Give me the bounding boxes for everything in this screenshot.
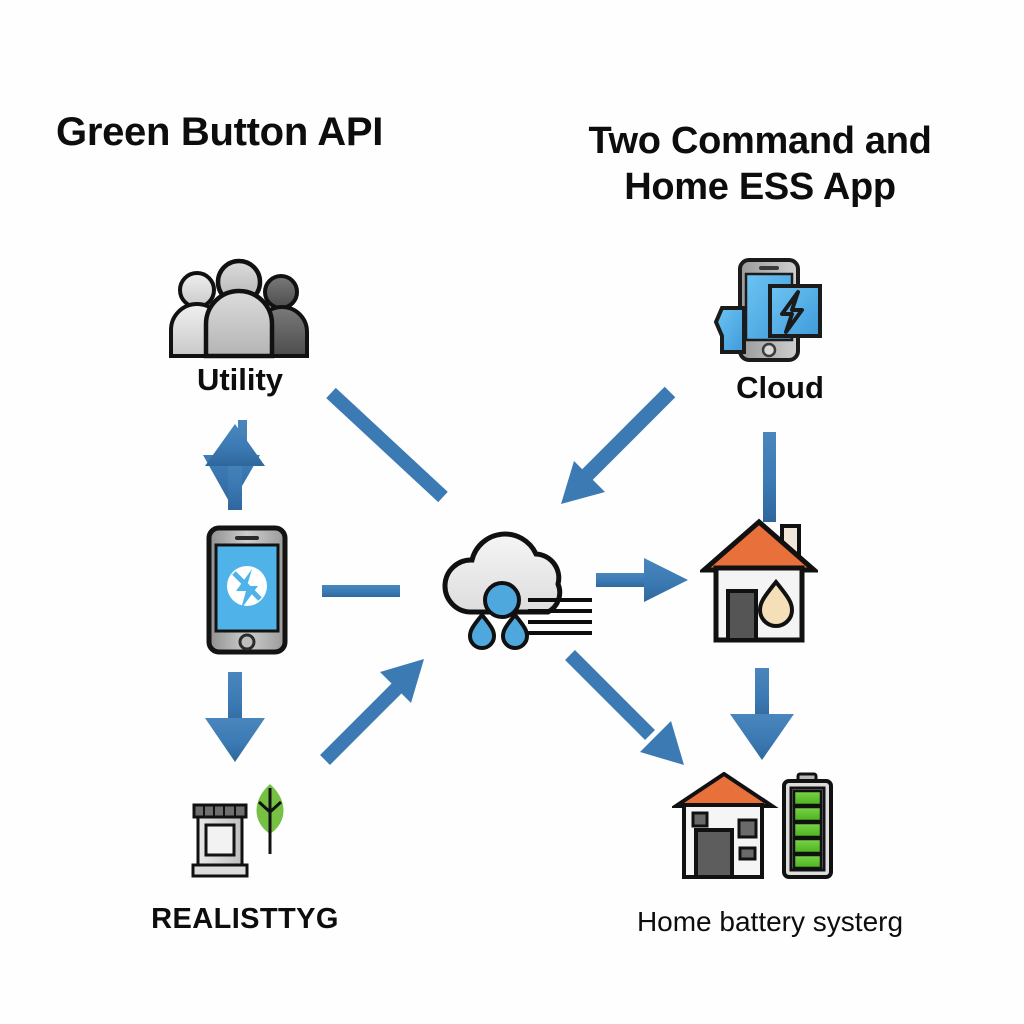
page-title-right-line1: Two Command and: [540, 118, 980, 164]
connector-utility-to-center-cloud: [331, 393, 443, 497]
people-group-icon: [165, 258, 315, 363]
diagram-canvas: Green Button API Two Command and Home ES…: [0, 0, 1024, 1024]
connector-cloud-app-to-house: [763, 432, 776, 522]
connector-cloud-app-to-center-cloud: [561, 392, 670, 504]
connector-house-to-home-battery: [730, 668, 794, 760]
connector-phone-to-utility: [203, 420, 265, 510]
smartphone-energy-icon: [206, 525, 288, 655]
node-label-home-battery: Home battery systerg: [580, 906, 960, 938]
node-label-cloud: Cloud: [660, 370, 900, 406]
house-droplet-icon: [700, 512, 818, 644]
connector-center-cloud-to-house: [596, 558, 688, 602]
connector-phone-to-meter: [205, 672, 265, 762]
node-label-meter: REALISTTYG: [105, 903, 385, 936]
node-label-utility: Utility: [120, 362, 360, 398]
page-title-right-line2: Home ESS App: [540, 164, 980, 210]
page-title-right: Two Command and Home ESS App: [540, 118, 980, 211]
utility-meter-leaf-icon: [180, 780, 300, 885]
cloud-rain-data-icon: [432, 512, 600, 662]
house-battery-icon: [672, 772, 860, 884]
connector-phone-to-center-cloud: [322, 585, 400, 597]
connector-meter-to-center-cloud: [325, 659, 424, 760]
page-title-left: Green Button API: [56, 108, 383, 157]
connector-center-cloud-to-home-battery: [570, 655, 684, 765]
phone-lightning-badge-icon: [712, 252, 832, 367]
